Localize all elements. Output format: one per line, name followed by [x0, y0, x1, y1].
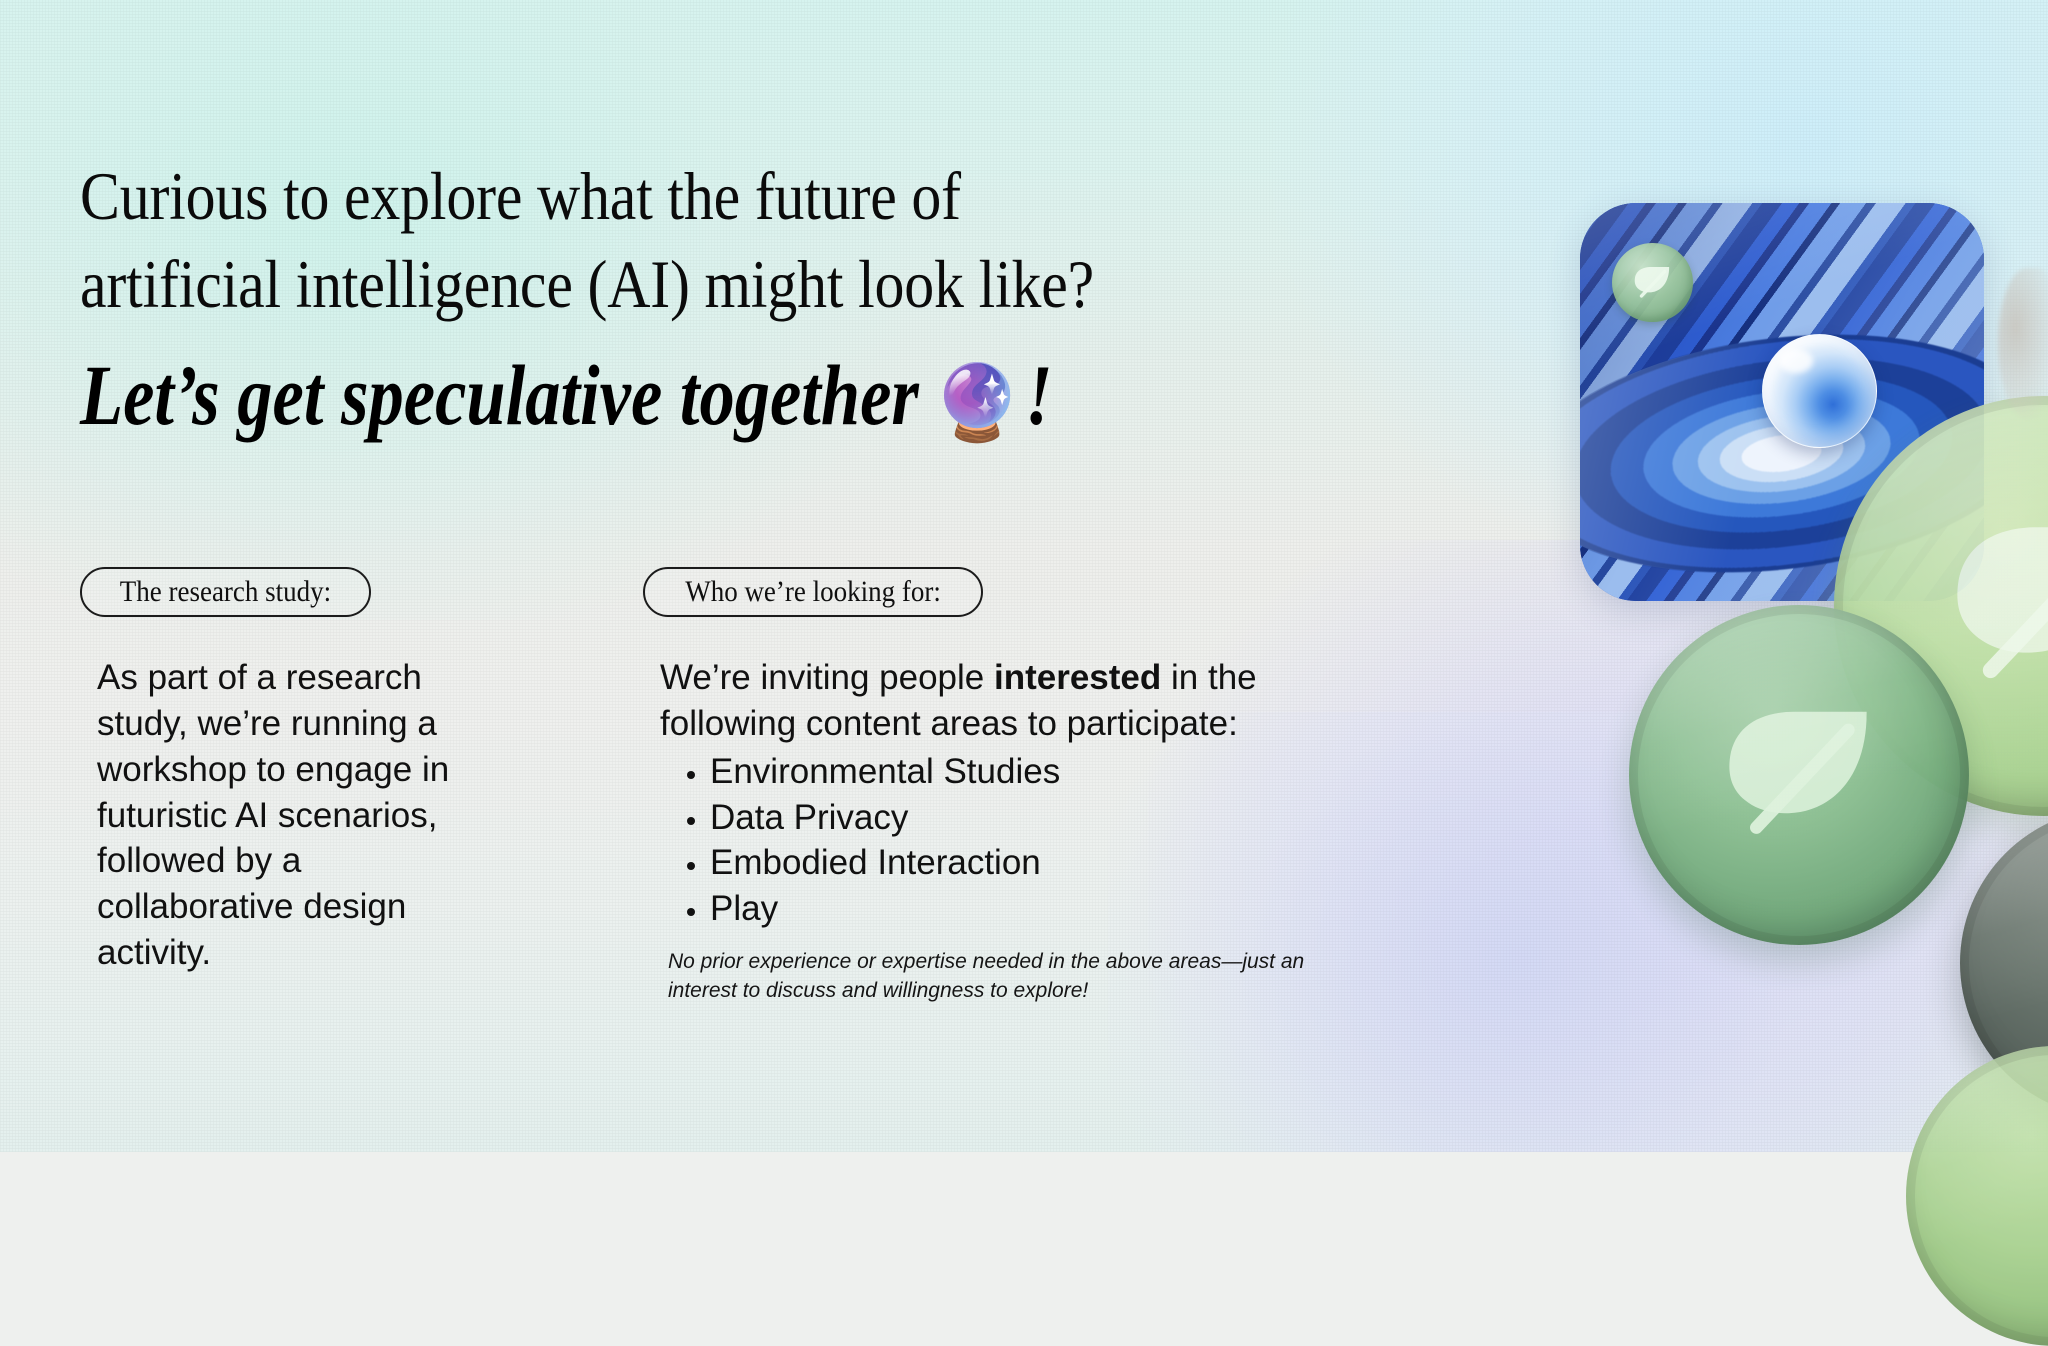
section-label-text: Who we’re looking for:	[685, 575, 941, 609]
page-headline: Curious to explore what the future of ar…	[80, 162, 1224, 318]
looking-for-footnote: No prior experience or expertise needed …	[668, 947, 1348, 1006]
crystal-ball-icon: 🔮	[931, 367, 1023, 441]
looking-for-lead: We’re inviting people interested in the …	[660, 655, 1380, 747]
headline-line-1: Curious to explore what the future of	[80, 158, 961, 234]
subheadline-text: Let’s get speculative together	[80, 347, 919, 443]
headline-line-2: artificial intelligence (AI) might look …	[80, 250, 1224, 318]
list-item: Embodied Interaction	[710, 840, 1380, 886]
list-item: Environmental Studies	[710, 749, 1380, 795]
looking-for-column: We’re inviting people interested in the …	[660, 655, 1380, 932]
section-label-text: The research study:	[120, 575, 331, 609]
list-item: Play	[710, 886, 1380, 932]
section-label-research-study: The research study:	[80, 567, 371, 617]
lead-emphasis: interested	[994, 658, 1161, 697]
research-study-body: As part of a research study, we’re runni…	[97, 655, 497, 976]
topic-list: Environmental StudiesData PrivacyEmbodie…	[660, 749, 1380, 932]
content-layer: Curious to explore what the future of ar…	[0, 0, 2048, 1152]
section-label-who-were-looking-for: Who we’re looking for:	[643, 567, 983, 617]
lead-before: We’re inviting people	[660, 658, 994, 697]
subheadline-punctuation: !	[1025, 352, 1052, 438]
page-subheadline: Let’s get speculative together 🔮!	[80, 352, 1310, 441]
research-study-column: As part of a research study, we’re runni…	[97, 655, 497, 976]
list-item: Data Privacy	[710, 795, 1380, 841]
